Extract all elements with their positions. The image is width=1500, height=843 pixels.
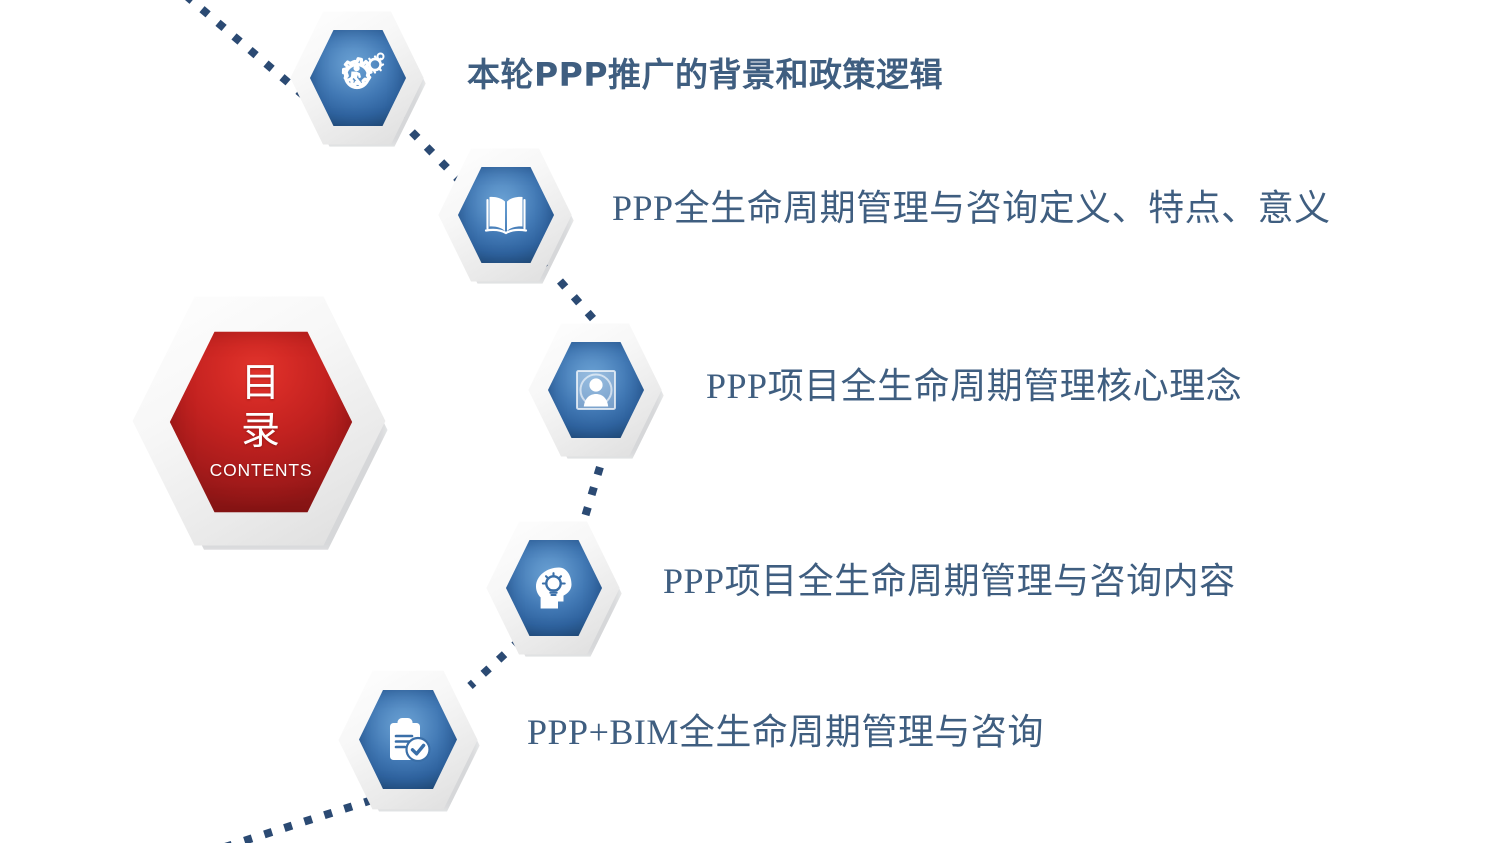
item-label-5: PPP+BIM全生命周期管理与咨询 (527, 713, 1044, 753)
user-portrait-icon (571, 365, 621, 415)
clipboard-check-icon (382, 715, 434, 765)
item-node-2[interactable] (437, 145, 579, 291)
item-node-5[interactable] (337, 667, 485, 819)
open-book-icon (481, 192, 531, 238)
item-label-1: 本轮PPP推广的背景和政策逻辑 (467, 57, 943, 93)
item-label-3: PPP项目全生命周期管理核心理念 (706, 367, 1242, 407)
item-label-2: PPP全生命周期管理与咨询定义、特点、意义 (612, 189, 1331, 229)
person-in-gear-icon (330, 52, 386, 104)
contents-title-cn-char-2: 录 (210, 412, 313, 451)
head-lightbulb-icon (528, 562, 580, 614)
item-node-3[interactable] (527, 320, 669, 466)
item-label-4: PPP项目全生命周期管理与咨询内容 (663, 562, 1236, 602)
contents-title-cn-char-1: 目 (241, 361, 281, 406)
item-node-4[interactable] (485, 518, 627, 664)
contents-title-en: CONTENTS (210, 462, 313, 480)
contents-label-group: 目录CONTENTS (210, 364, 313, 480)
item-node-1[interactable] (289, 8, 431, 154)
contents-node: 目录CONTENTS (130, 290, 392, 558)
contents-slide: 目录CONTENTS 本轮PPP推广的背景和政策逻辑 (0, 0, 1500, 843)
contents-title-cn: 目录 (210, 364, 313, 451)
